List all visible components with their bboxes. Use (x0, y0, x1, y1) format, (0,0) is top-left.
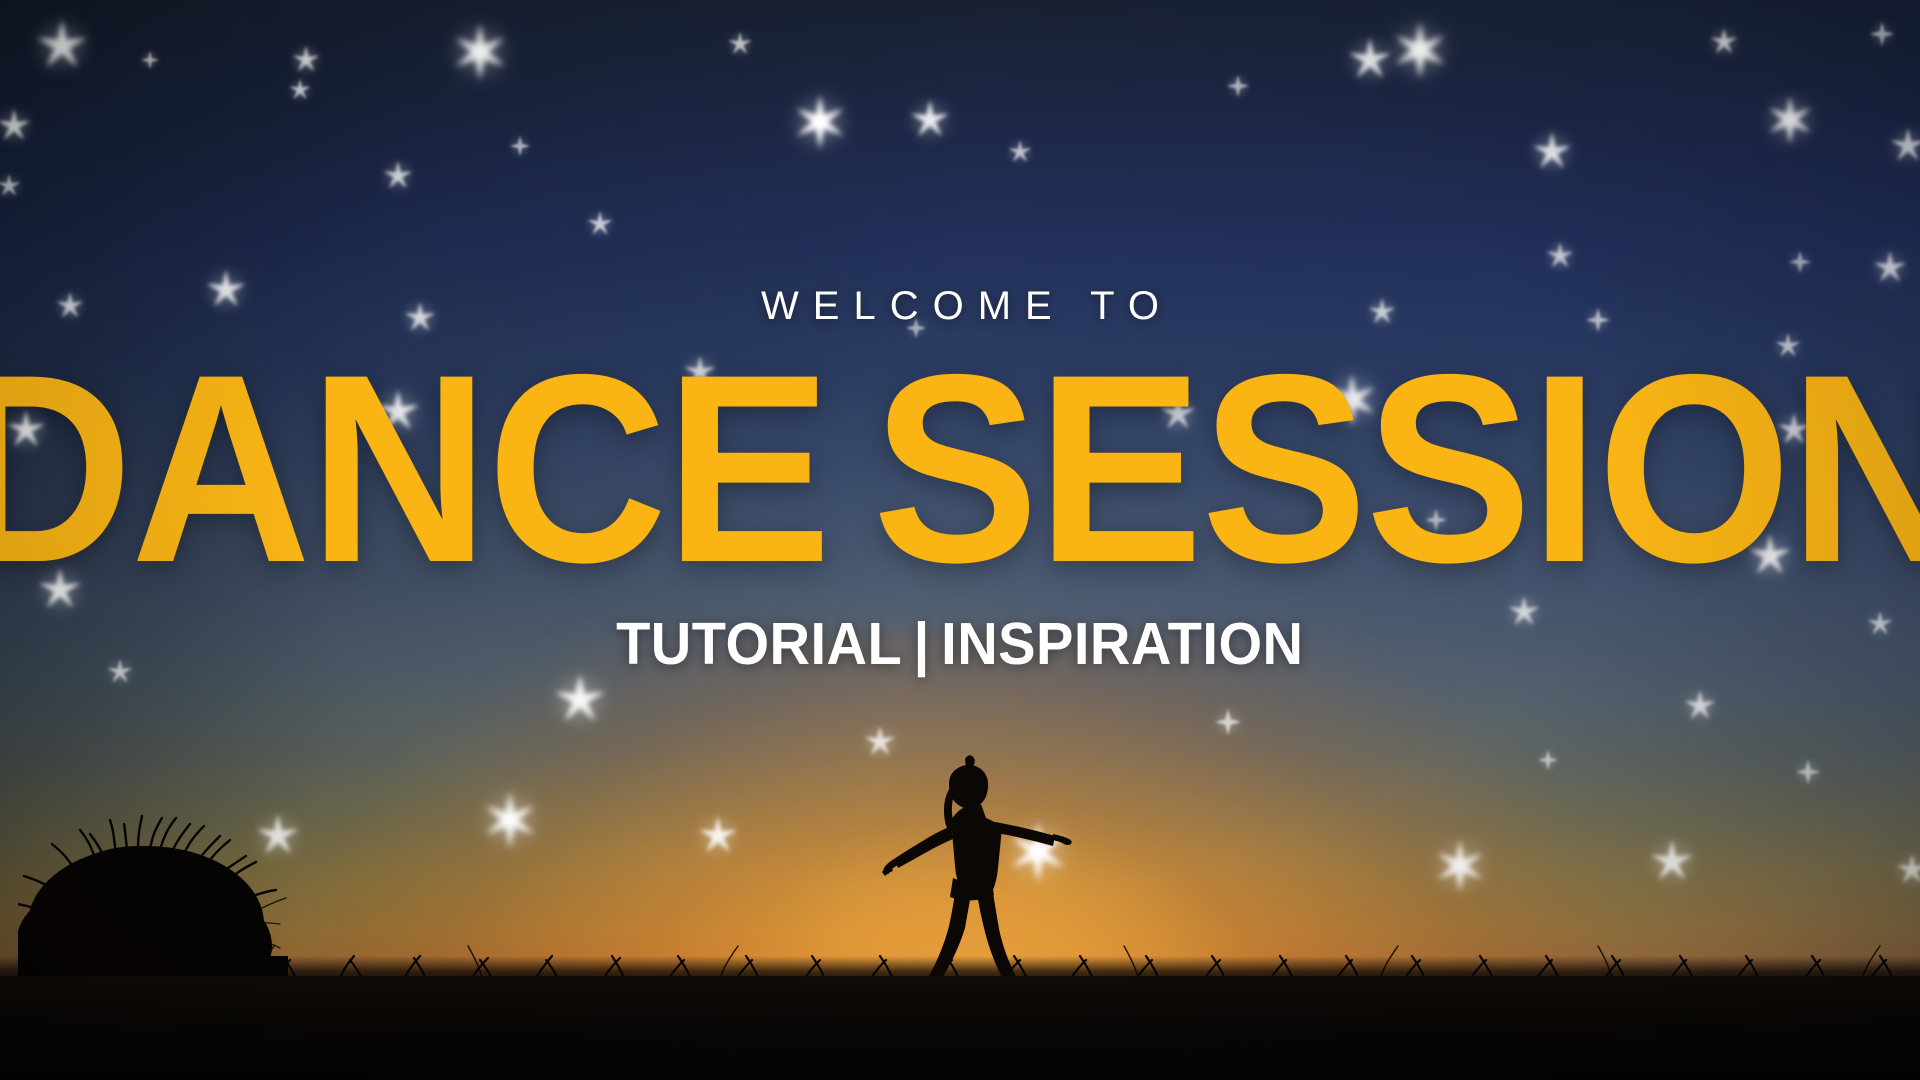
tagline-separator: | (902, 615, 941, 674)
tagline-inspiration: INSPIRATION (941, 611, 1303, 677)
page-title: DANCESESSION (0, 356, 1920, 581)
tagline: TUTORIAL|INSPIRATION (616, 615, 1303, 674)
slide-canvas: WELCOME TO DANCESESSION TUTORIAL|INSPIRA… (0, 0, 1920, 1080)
title-word-session: SESSION (872, 356, 1920, 581)
slide-content: WELCOME TO DANCESESSION TUTORIAL|INSPIRA… (0, 0, 1920, 1080)
tagline-tutorial: TUTORIAL (616, 611, 902, 677)
title-word-dance: DANCE (0, 356, 830, 581)
